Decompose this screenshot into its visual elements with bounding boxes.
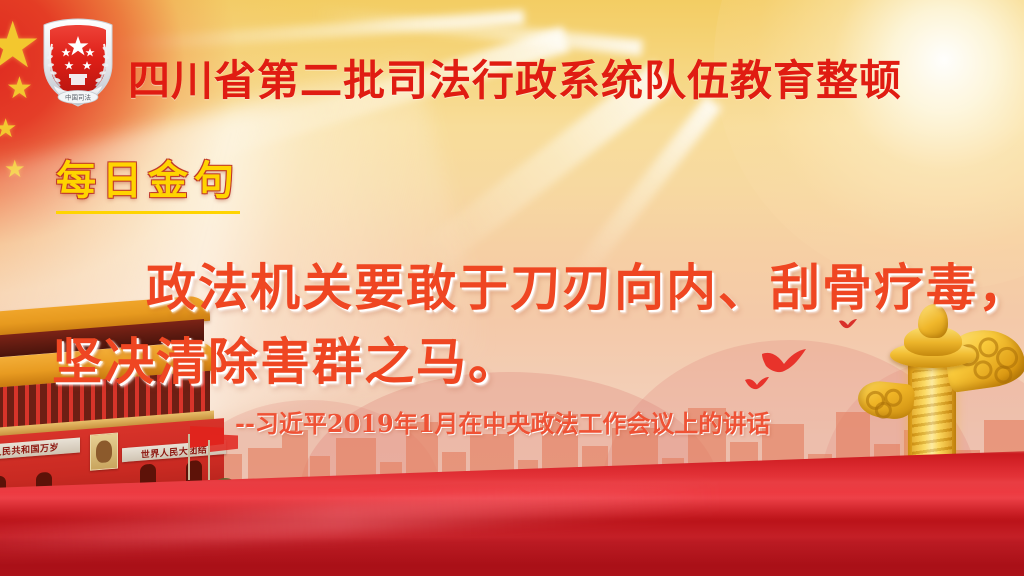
dove-icon xyxy=(744,376,770,392)
page-title: 四川省第二批司法行政系统队伍教育整顿 xyxy=(128,47,902,108)
china-judicial-emblem-icon: 中国司法 xyxy=(36,16,120,110)
poster-canvas: ★ ★ ★ ★ xyxy=(0,0,1024,576)
dove-icon xyxy=(760,348,808,378)
tiananmen-banner-left: 华人民共和国万岁 xyxy=(0,437,80,461)
tiananmen-portrait xyxy=(90,433,118,471)
quote-line-1: 政法机关要敢于刀刃向内、刮骨疗毒， xyxy=(146,248,1024,320)
flag-pole xyxy=(208,440,210,480)
quote-attribution: --习近平2019年1月在中央政法工作会议上的讲话 xyxy=(235,404,770,439)
flag-star-icon: ★ xyxy=(6,74,33,104)
quote-line-2: 坚决清除害群之马。 xyxy=(52,322,520,394)
flag-star-icon: ★ xyxy=(0,116,17,142)
emblem-caption: 中国司法 xyxy=(65,93,92,102)
flag-pole xyxy=(188,434,190,480)
section-label-daily-quote: 每日金句 xyxy=(56,148,240,214)
huabiao-cloud-wing-left xyxy=(856,379,915,421)
